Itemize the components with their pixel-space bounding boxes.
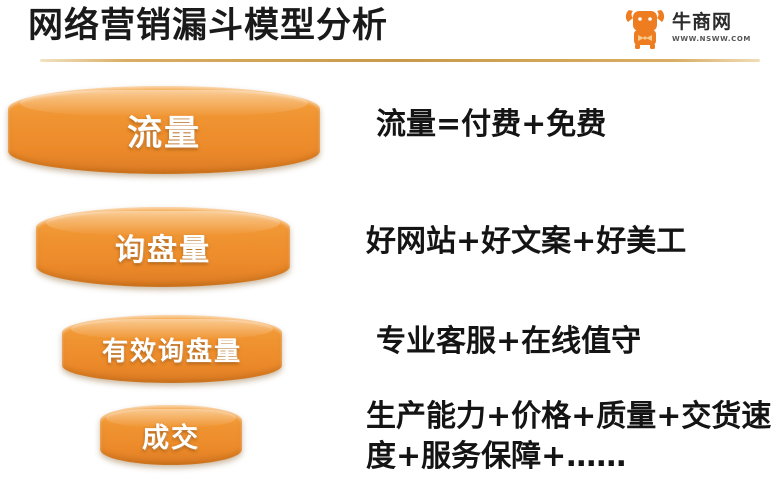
bull-logo-icon — [622, 6, 668, 50]
description-inquiry: 好网站+好文案+好美工 — [366, 224, 686, 260]
funnel-stage-label: 询盘量 — [115, 225, 211, 269]
funnel-stage-deal: 成交 — [100, 405, 242, 465]
logo-brand-name: 牛商网 — [672, 11, 770, 33]
funnel-stage-label: 有效询盘量 — [102, 331, 242, 368]
funnel-stage-label: 流量 — [127, 105, 201, 156]
funnel-stage-label: 成交 — [142, 416, 200, 455]
description-traffic: 流量=付费+免费 — [376, 107, 606, 143]
page-title: 网络营销漏斗模型分析 — [28, 2, 388, 50]
description-list: 流量=付费+免费 好网站+好文案+好美工 专业客服+在线值守 生产能力+价格+质… — [366, 62, 779, 492]
funnel-stage-effective-inquiry: 有效询盘量 — [62, 315, 282, 383]
description-effective-inquiry: 专业客服+在线值守 — [376, 324, 641, 360]
funnel-stage-inquiry: 询盘量 — [36, 207, 290, 287]
funnel-diagram: 流量 询盘量 有效询盘量 成交 — [0, 62, 350, 492]
logo-text-block: 牛商网 WWW.NSWW.COM — [672, 11, 770, 44]
logo-website-url: WWW.NSWW.COM — [672, 34, 770, 44]
funnel-stage-traffic: 流量 — [8, 86, 320, 174]
description-deal: 生产能力+价格+质量+交货速度+服务保障+…… — [366, 397, 779, 477]
header: 网络营销漏斗模型分析 — [0, 0, 779, 62]
brand-logo: 牛商网 WWW.NSWW.COM — [622, 6, 772, 54]
